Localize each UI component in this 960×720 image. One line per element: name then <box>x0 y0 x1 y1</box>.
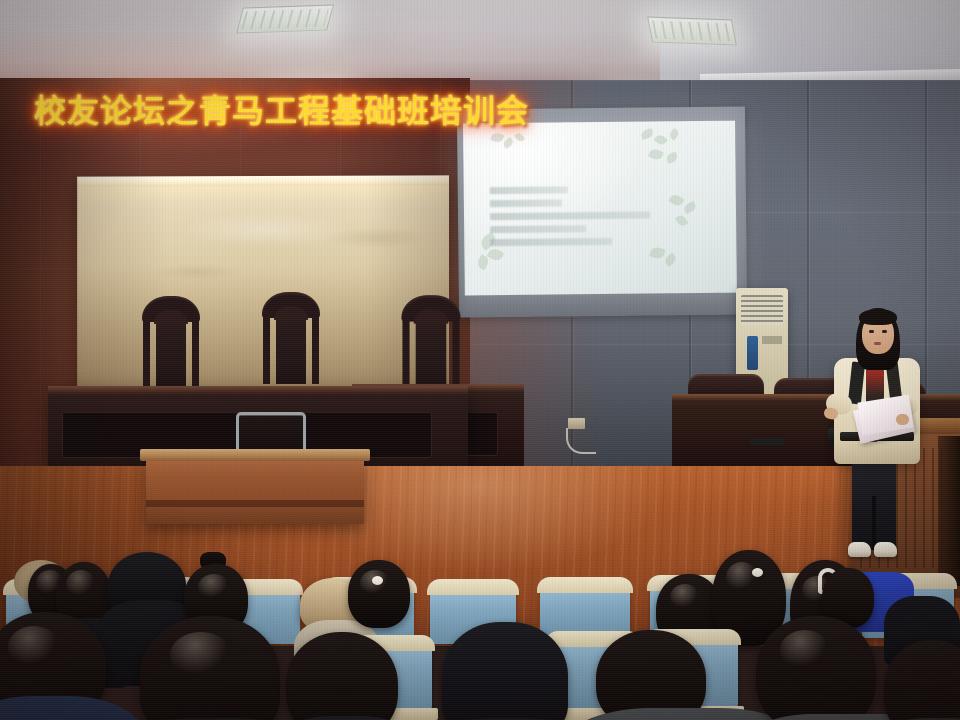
ceiling-light-panel-3 <box>647 17 737 46</box>
leaf-watermark-icon <box>665 152 678 164</box>
projection-screen-surface <box>463 121 737 296</box>
leaf-watermark-icon <box>663 252 678 267</box>
leaf-watermark-icon <box>668 128 681 141</box>
arched-chair-right <box>401 295 460 389</box>
projection-screen <box>457 106 747 317</box>
presentation-remote[interactable] <box>750 438 784 445</box>
arched-chair-center <box>262 292 320 384</box>
arched-chair-left <box>142 296 200 388</box>
slide-text-block <box>490 185 691 252</box>
ceiling-light-panel-1 <box>236 4 334 33</box>
ac-control-panel[interactable] <box>747 336 758 370</box>
leaf-watermark-icon <box>648 147 664 161</box>
wooden-lectern-box <box>146 458 364 524</box>
ac-vent-icon <box>741 295 783 325</box>
leaf-watermark-icon <box>654 133 668 147</box>
audience <box>0 520 960 720</box>
auditorium-photo: 校友论坛之青马工程基础班培训会 <box>0 0 960 720</box>
